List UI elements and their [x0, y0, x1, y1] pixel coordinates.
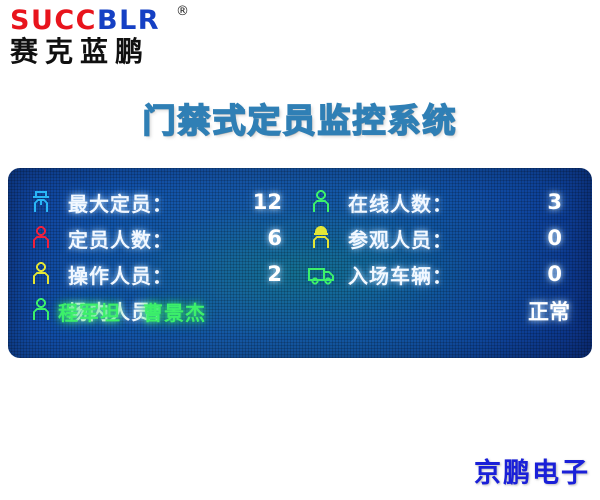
led-value-operators: 2 [242, 262, 296, 286]
led-panel-content: 最大定员： 12 定员人数： 6 [8, 168, 592, 358]
led-label-vehicles-entered: 入场车辆： [338, 260, 522, 289]
onsite-names-list: 程军坦 曹景杰 [24, 297, 528, 326]
brand-logo-latin-primary: SUCC [10, 5, 97, 36]
led-value-online-count: 3 [522, 190, 576, 214]
person-icon [304, 187, 338, 217]
list-item: 程军坦 [58, 297, 121, 326]
led-row-max-capacity: 最大定员： 12 [24, 184, 296, 220]
led-label-registered-count: 定员人数： [58, 224, 242, 253]
led-label-operators: 操作人员： [58, 260, 242, 289]
person-with-cap-icon [24, 187, 58, 217]
led-row-operators: 操作人员： 2 [24, 256, 296, 292]
led-row-vehicles-entered: 入场车辆： 0 [304, 256, 576, 292]
led-row-online-count: 在线人数： 3 [304, 184, 576, 220]
brand-logo-chinese: 赛克蓝鹏 [10, 35, 150, 69]
truck-icon [304, 259, 338, 289]
led-row-visitors: 参观人员： 0 [304, 220, 576, 256]
led-row-registered-count: 定员人数： 6 [24, 220, 296, 256]
led-label-max-capacity: 最大定员： [58, 188, 242, 217]
led-label-visitors: 参观人员： [338, 224, 522, 253]
led-value-max-capacity: 12 [242, 190, 296, 214]
list-item: 曹景杰 [143, 297, 206, 326]
page-title: 门禁式定员监控系统 [0, 94, 600, 142]
brand-logo-latin: SUCCBLR [10, 6, 160, 36]
brand-logo-latin-secondary: BLR [97, 5, 160, 36]
led-value-visitors: 0 [522, 226, 576, 250]
brand-logo: SUCCBLR ® 赛克蓝鹏 [8, 6, 218, 78]
registered-trademark-icon: ® [176, 4, 189, 19]
status-badge: 正常 [528, 296, 576, 326]
led-value-vehicles-entered: 0 [522, 262, 576, 286]
led-row-onsite-names: 程军坦 曹景杰 正常 [24, 292, 576, 330]
person-icon [24, 259, 58, 289]
person-icon [24, 223, 58, 253]
footer-company-logo: 京鹏电子 [474, 451, 590, 490]
led-label-online-count: 在线人数： [338, 188, 522, 217]
led-display-panel: 最大定员： 12 定员人数： 6 [8, 168, 592, 358]
led-value-registered-count: 6 [242, 226, 296, 250]
led-right-column: 在线人数： 3 参观人员： 0 [304, 184, 576, 292]
person-with-cap-icon [304, 223, 338, 253]
